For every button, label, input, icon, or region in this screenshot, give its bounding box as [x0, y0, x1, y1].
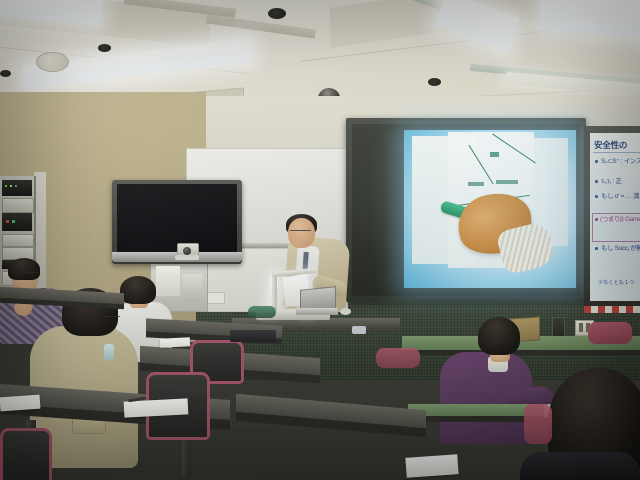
mouse-icon[interactable] — [340, 308, 351, 315]
slide-bullet: もし Succⱼ が無視で — [601, 243, 640, 252]
handout-paper — [405, 454, 458, 478]
device-on-desk — [230, 330, 276, 342]
slide-footnote: 少なくとも１つ — [598, 279, 634, 286]
recessed-downlight — [268, 8, 286, 19]
slide-bullet: τ₀,τ₁ : 正 — [601, 176, 622, 185]
chair[interactable] — [376, 348, 420, 368]
camera-base — [175, 255, 199, 260]
slide-bullet: (つまりβ Gameₕᵤᵣᵗ…) — [600, 214, 640, 223]
stand-shelf-device — [182, 274, 202, 302]
slide-title: 安全性の — [594, 139, 640, 151]
recessed-downlight — [98, 44, 111, 52]
recessed-downlight — [0, 70, 11, 77]
presenter-glasses — [290, 230, 311, 235]
desk-edge — [402, 350, 640, 355]
whiteboard-eraser — [206, 292, 225, 304]
drawing-label — [490, 152, 499, 157]
audience-hair — [478, 317, 520, 355]
drawing-label — [468, 182, 484, 186]
side-slide: 安全性の S₀⊂S⁺ : インスタンスの τ₀,τ₁ : 正 もし σ′ = …… — [590, 133, 640, 301]
laptop-keyboard[interactable] — [296, 308, 338, 315]
slide-bullet: S₀⊂S⁺ : インスタンスの — [601, 156, 640, 165]
glasses-icon — [18, 272, 38, 277]
ceiling-speaker — [36, 52, 69, 72]
drawing-label — [496, 180, 518, 184]
hazard-stripe-trim — [584, 306, 640, 313]
tv-screen — [117, 184, 237, 252]
audience-hair — [120, 276, 156, 304]
chair[interactable] — [588, 322, 632, 344]
chair[interactable] — [0, 428, 52, 480]
cable-bundle — [248, 306, 276, 318]
water-bottle — [104, 344, 114, 360]
small-device — [352, 326, 366, 334]
ceiling-light — [539, 0, 640, 38]
camera-lens-icon — [183, 247, 191, 255]
projection-screen-document-camera-feed — [404, 130, 576, 288]
emergency-button-plate[interactable] — [552, 317, 565, 337]
slide-bullet: もし σ′ = … 満たすサ — [601, 191, 640, 200]
audience-shoulders — [520, 452, 640, 480]
stand-shelf-paper — [156, 266, 180, 296]
lecture-room-photo: 安全性の S₀⊂S⁺ : インスタンスの τ₀,τ₁ : 正 もし σ′ = …… — [0, 0, 640, 480]
chair[interactable] — [524, 404, 552, 444]
handout-paper — [160, 337, 190, 348]
slide-title-rule — [593, 152, 640, 153]
glasses-icon — [104, 316, 120, 322]
handout-paper — [0, 395, 40, 412]
recessed-downlight — [428, 78, 441, 86]
ceiling-troffer — [206, 14, 316, 38]
